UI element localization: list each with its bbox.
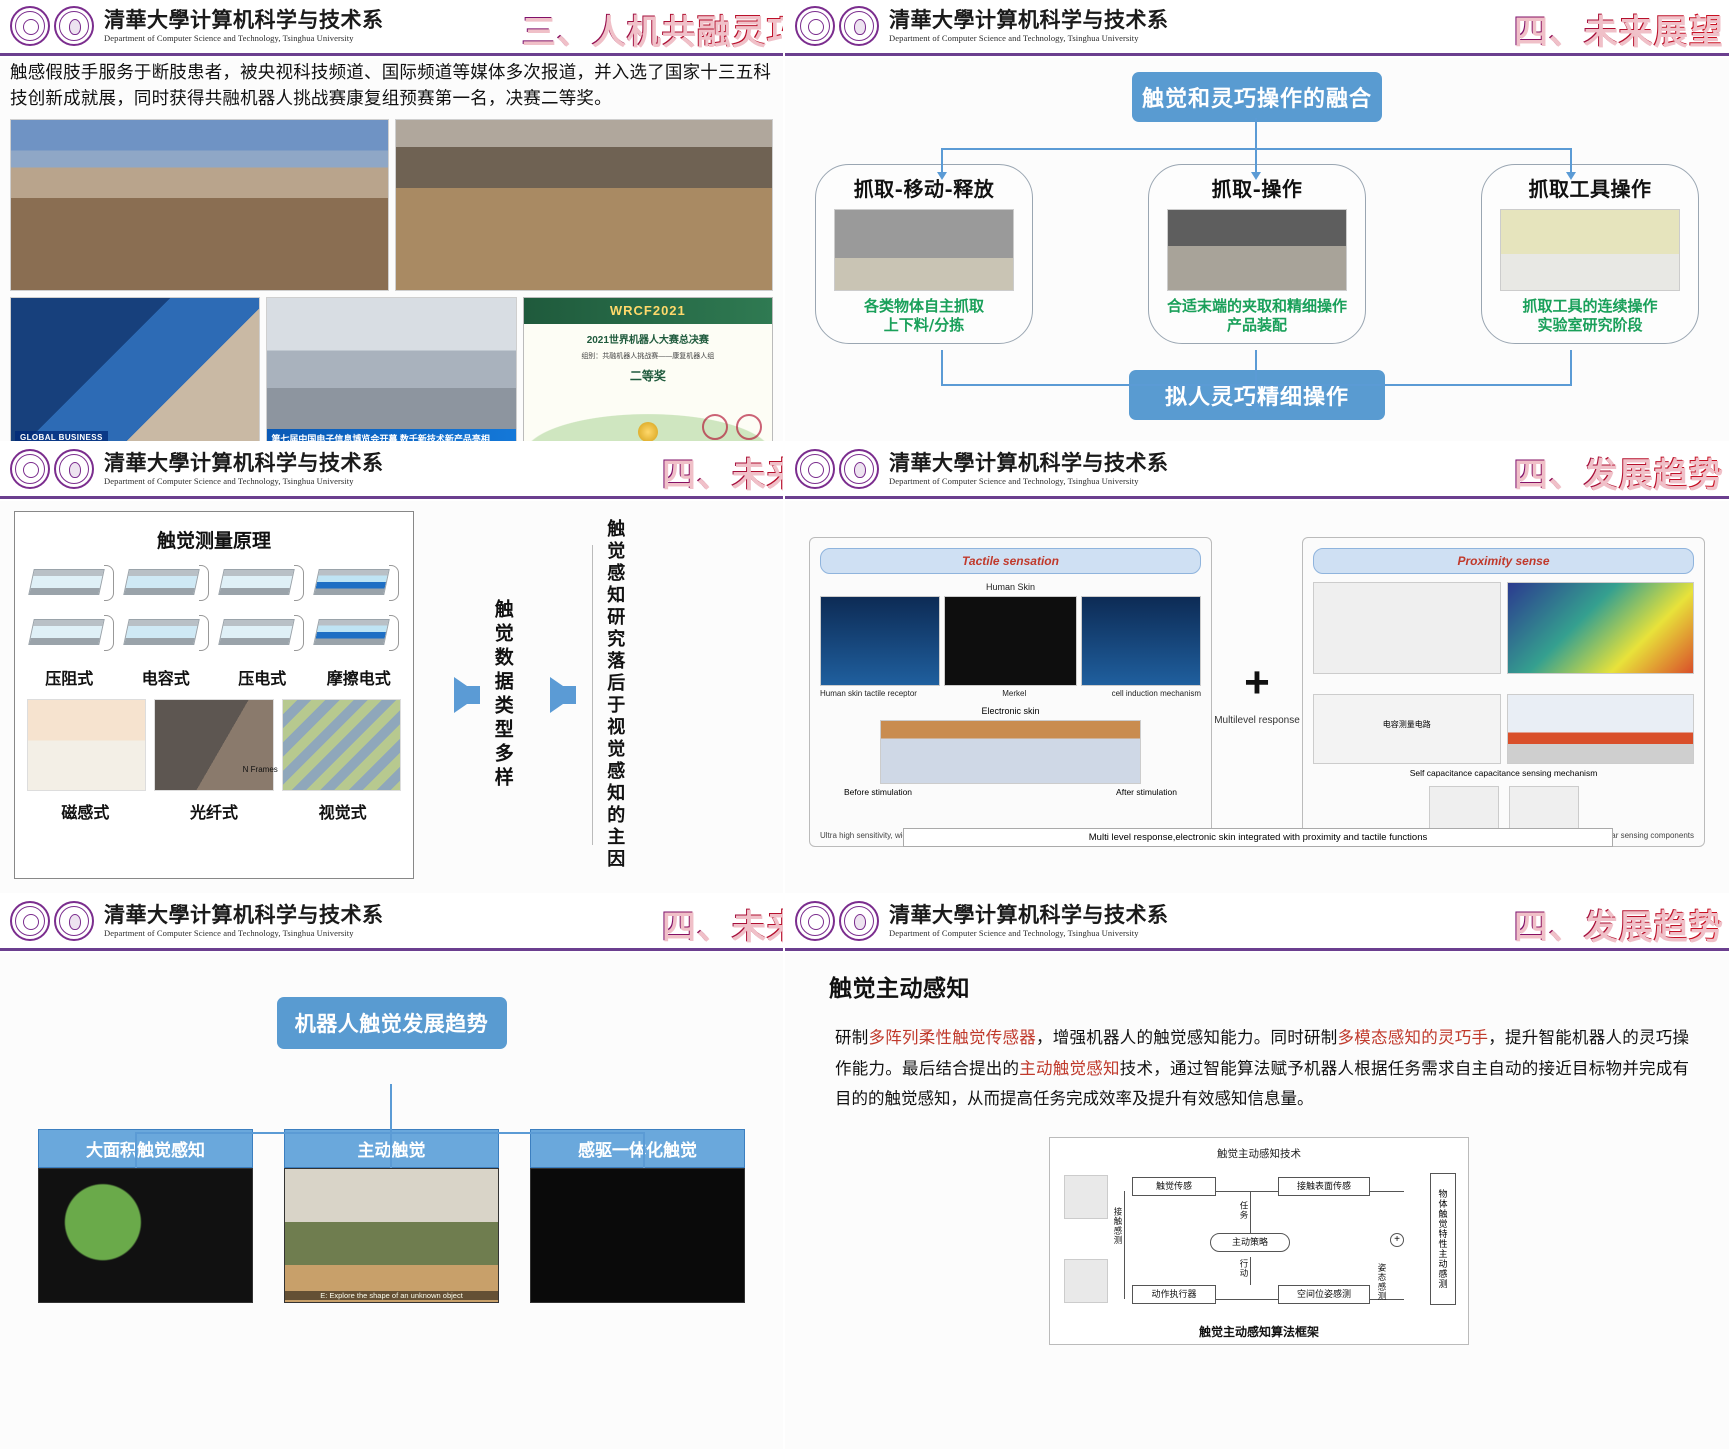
sensor-label-row-2: 磁感式 光纤式 视觉式 xyxy=(21,799,407,823)
flow-card-grasp-move-release[interactable]: 抓取-移动-释放 各类物体自主抓取 上下料/分拣 xyxy=(815,164,1033,344)
flow-card-tool-use[interactable]: 抓取工具操作 抓取工具的连续操作 实验室研究阶段 xyxy=(1481,164,1699,344)
node-object-tactile-property: 物体触觉特性主动感测 xyxy=(1430,1173,1456,1305)
right-arrow-icon-1 xyxy=(454,677,480,713)
hand-silhouette-1 xyxy=(1429,786,1499,834)
sensor-diagram-piezoelectric-bottom xyxy=(215,613,308,659)
hand-silhouette-2 xyxy=(1509,786,1579,834)
dept-name-cn: 清華大學计算机科学与技术系 xyxy=(104,9,384,31)
flow-connector-merge-1 xyxy=(941,350,943,386)
slide-6[interactable]: 清華大學计算机科学与技术系 Department of Computer Sci… xyxy=(785,895,1731,1451)
dept-name-cn: 清華大學计算机科学与技术系 xyxy=(889,9,1169,31)
panel-title: 触觉测量原理 xyxy=(21,526,407,553)
arrow-2-wrap xyxy=(524,677,576,713)
edge-action xyxy=(1250,1257,1251,1285)
cs-dept-seal-icon xyxy=(54,449,94,489)
merkel-cell-image xyxy=(944,596,1076,686)
node-tactile-sensing: 触觉传感 xyxy=(1132,1177,1216,1197)
node-active-strategy: 主动策略 xyxy=(1210,1233,1290,1253)
slide-5-title: 四、未来展望 xyxy=(661,899,785,948)
edge-task xyxy=(1250,1191,1251,1233)
sensor-photo-magnetic xyxy=(27,699,146,791)
slide-6-heading: 触觉主动感知 xyxy=(829,969,1689,1003)
slide-5-header: 清華大學计算机科学与技术系 Department of Computer Sci… xyxy=(0,895,783,947)
sensor-label-piezoresistive: 压阻式 xyxy=(21,665,118,689)
flow-card-row: 抓取-移动-释放 各类物体自主抓取 上下料/分拣 抓取-操作 合适末端的夹取和精… xyxy=(801,164,1713,344)
flow-card-image-robot-tool-use xyxy=(1500,209,1680,291)
photo-prosthetic-hand-pingpong xyxy=(10,119,389,291)
slide-6-header: 清華大學计算机科学与技术系 Department of Computer Sci… xyxy=(785,895,1729,947)
dept-name-en: Department of Computer Science and Techn… xyxy=(889,928,1169,938)
cs-dept-seal-icon xyxy=(54,901,94,941)
flow-connector-vertical-top xyxy=(1255,118,1257,150)
slide-4-header: 清華大學计算机科学与技术系 Department of Computer Sci… xyxy=(785,443,1729,495)
photo-prosthetic-hand-grasp-ball xyxy=(395,119,774,291)
sensor-label-magnetic: 磁感式 xyxy=(21,799,150,823)
photo-prosthetic-arm-exhibition: 第七届中国电子信息博览会开幕 数千新技术新产品亮相 xyxy=(266,297,516,444)
photo-banner-expo: 第七届中国电子信息博览会开幕 数千新技术新产品亮相 xyxy=(267,429,515,444)
dept-name-en: Department of Computer Science and Techn… xyxy=(104,476,384,486)
flow-card-image-robot-grasp-sorting xyxy=(834,209,1014,291)
vertical-divider xyxy=(592,545,593,845)
flow-card-caption: 各类物体自主抓取 上下料/分拣 xyxy=(826,297,1022,335)
paragraph-highlight-5: 主动触觉感知 xyxy=(1019,1059,1120,1078)
plus-group: + Multilevel response xyxy=(1212,658,1302,727)
flow-node-bottom: 拟人灵巧精细操作 xyxy=(1129,370,1385,420)
flow-card-grasp-manipulate[interactable]: 抓取-操作 合适末端的夹取和精细操作 产品装配 xyxy=(1148,164,1366,344)
node-spatial-pose-sensing: 空间位姿感测 xyxy=(1278,1285,1370,1305)
tsinghua-seal-icon xyxy=(795,6,835,46)
figure-diagram: 触觉传感 接触表面传感 主动策略 动作执行器 空间位姿感测 物体触觉特性主动感测… xyxy=(1060,1167,1458,1317)
figure-caption: 触觉主动感知算法框架 xyxy=(1060,1323,1458,1340)
flow-connector-branch-1 xyxy=(941,148,943,174)
trend-card-image-robot-full-body xyxy=(38,1168,253,1303)
sensor-diagram-piezoresistive-top xyxy=(25,563,118,609)
dept-name-en: Department of Computer Science and Techn… xyxy=(104,928,384,938)
flow-connector-merge-3 xyxy=(1570,350,1572,386)
induction-mechanism-image xyxy=(1081,596,1201,686)
tsinghua-seal-icon xyxy=(795,901,835,941)
trend-card-image-active-probe: E: Explore the shape of an unknown objec… xyxy=(284,1168,499,1303)
paragraph-text-0: 研制 xyxy=(835,1028,869,1047)
certificate-seal-icon-2 xyxy=(736,414,762,440)
sensor-diagram-piezoresistive-bottom xyxy=(25,613,118,659)
sensor-label-piezoelectric: 压电式 xyxy=(214,665,311,689)
sensor-label-optical-fiber: 光纤式 xyxy=(150,799,279,823)
slide-4-body: Tactile sensation Human Skin Human skin … xyxy=(785,495,1729,889)
sensor-photo-optical-fiber xyxy=(154,699,273,791)
slide-6-paragraph: 研制多阵列柔性触觉传感器，增强机器人的触觉感知能力。同时研制多模态感知的灵巧手，… xyxy=(829,1023,1689,1115)
flow-node-top: 触觉和灵巧操作的融合 xyxy=(1132,72,1382,122)
paragraph-highlight-1: 多阵列柔性触觉传感器 xyxy=(869,1028,1037,1047)
cs-dept-seal-icon xyxy=(839,449,879,489)
sensor-label-row-1: 压阻式 电容式 压电式 摩擦电式 xyxy=(21,665,407,689)
robot-arm-icon xyxy=(1064,1259,1108,1303)
slide-3-header: 清華大學计算机科学与技术系 Department of Computer Sci… xyxy=(0,443,783,495)
tsinghua-seal-icon xyxy=(795,449,835,489)
flow-card-image-robot-assembly xyxy=(1167,209,1347,291)
electronic-skin-image xyxy=(880,720,1141,784)
flow-arrow-1 xyxy=(937,172,947,180)
plus-icon: + xyxy=(1244,658,1270,708)
arrow-1-wrap xyxy=(428,677,480,713)
edge-label-contact-sensing: 接触感测 xyxy=(1112,1207,1124,1245)
cs-dept-seal-icon xyxy=(839,901,879,941)
dept-name-cn: 清華大學计算机科学与技术系 xyxy=(889,904,1169,926)
slide-1[interactable]: 清華大學计算机科学与技术系 Department of Computer Sci… xyxy=(0,0,785,443)
right-arrow-icon-2 xyxy=(550,677,576,713)
slide-1-header: 清華大學计算机科学与技术系 Department of Computer Sci… xyxy=(0,0,783,52)
slide-4-title: 四、发展趋势 xyxy=(1513,447,1723,496)
trend-card-image-caption: E: Explore the shape of an unknown objec… xyxy=(285,1291,498,1300)
flow-connector-branch-3 xyxy=(1570,148,1572,174)
flow-card-caption: 抓取工具的连续操作 实验室研究阶段 xyxy=(1492,297,1688,335)
trend-connector-vertical xyxy=(390,1084,392,1134)
multilevel-response-label: Multilevel response xyxy=(1212,714,1302,727)
sensor-diagram-piezoelectric-top xyxy=(215,563,308,609)
slide-6-title: 四、发展趋势 xyxy=(1513,899,1723,948)
near-sensing-label: Near sensing components xyxy=(1601,831,1694,840)
edge-label-action: 行动 xyxy=(1238,1259,1250,1278)
edge-top xyxy=(1216,1191,1278,1192)
skin-receptor-image xyxy=(820,596,940,686)
after-stimulation-label: After stimulation xyxy=(1116,787,1177,797)
proximity-sensor-photo xyxy=(1313,582,1501,674)
proximity-sense-badge: Proximity sense xyxy=(1313,548,1694,574)
trend-card-title: 感驱一体化触觉 xyxy=(530,1129,745,1168)
sensor-label-triboelectric: 摩擦电式 xyxy=(311,665,408,689)
vertical-text-conclusion: 触觉感知研究落后于视觉感知的主因 xyxy=(603,519,626,871)
slide-3-title: 四、未来展望 xyxy=(661,447,785,496)
paragraph-text-2: ，增强机器人的触觉感知能力。同时研制 xyxy=(1036,1028,1338,1047)
photo-cctv-interview: GLOBAL BUSINESS xyxy=(10,297,260,444)
sensor-diagram-triboelectric-bottom xyxy=(310,613,403,659)
slide-4[interactable]: 清華大學计算机科学与技术系 Department of Computer Sci… xyxy=(785,443,1731,895)
sensor-label-capacitive: 电容式 xyxy=(118,665,215,689)
slide-thumbnail-grid: 清華大學计算机科学与技术系 Department of Computer Sci… xyxy=(0,0,1731,1451)
human-skin-label: Human Skin xyxy=(820,582,1201,592)
slide-4-bottom-note-wrap: Multi level response,electronic skin int… xyxy=(903,828,1613,847)
circuit-label-cn: 电容测量电路 xyxy=(1314,695,1500,730)
trend-card-image-horse-robot xyxy=(530,1168,745,1303)
flow-card-title: 抓取-移动-释放 xyxy=(826,173,1022,202)
slide-3[interactable]: 清華大學计算机科学与技术系 Department of Computer Sci… xyxy=(0,443,785,895)
tsinghua-seal-icon xyxy=(10,901,50,941)
photo-award-certificate: WRCF2021 2021世界机器人大赛总决赛 组别：共融机器人挑战赛——康复机… xyxy=(523,297,773,444)
trend-node-top: 机器人触觉发展趋势 xyxy=(277,997,507,1049)
cs-dept-seal-icon xyxy=(54,6,94,46)
sensor-photo-row: N Frames xyxy=(21,689,407,791)
paragraph-highlight-3: 多模态感知的灵巧手 xyxy=(1338,1028,1489,1047)
flow-connector-branch-2 xyxy=(1255,148,1257,174)
flow-arrow-bottom xyxy=(1251,404,1261,412)
edge-label-pose-sensing: 姿态感测 xyxy=(1376,1263,1388,1301)
dexterous-hand-icon xyxy=(1064,1175,1108,1219)
photo-caption-global-business: GLOBAL BUSINESS xyxy=(15,431,108,444)
capacitance-circuit-diagram: 电容测量电路 xyxy=(1313,694,1501,764)
flow-connector-merge-2 xyxy=(1255,350,1257,406)
edge-bottom xyxy=(1216,1299,1278,1300)
node-contact-surface-sensing: 接触表面传感 xyxy=(1278,1177,1370,1197)
slide-2[interactable]: 清華大學计算机科学与技术系 Department of Computer Sci… xyxy=(785,0,1731,443)
sensor-diagram-triboelectric-top xyxy=(310,563,403,609)
trend-card-title: 大面积触觉感知 xyxy=(38,1129,253,1168)
slide-2-header: 清華大學计算机科学与技术系 Department of Computer Sci… xyxy=(785,0,1729,52)
trend-card-integrated-sensing-actuation[interactable]: 感驱一体化触觉 xyxy=(530,1129,745,1303)
dept-name-cn: 清華大學计算机科学与技术系 xyxy=(104,904,384,926)
sensor-diagram-capacitive-bottom xyxy=(120,613,213,659)
node-action-executor: 动作执行器 xyxy=(1132,1285,1216,1305)
tsinghua-seal-icon xyxy=(10,6,50,46)
sensor-diagram-capacitive-top xyxy=(120,563,213,609)
dept-name-en: Department of Computer Science and Techn… xyxy=(104,33,384,43)
tactile-sensation-card: Tactile sensation Human Skin Human skin … xyxy=(809,537,1212,847)
vision-frames-note: N Frames xyxy=(243,765,278,774)
flow-card-caption: 合适末端的夹取和精细操作 产品装配 xyxy=(1159,297,1355,335)
cs-dept-seal-icon xyxy=(839,6,879,46)
receptor-label: Human skin tactile receptor xyxy=(820,689,917,698)
figure-title: 触觉主动感知技术 xyxy=(1060,1146,1458,1161)
dept-name-en: Department of Computer Science and Techn… xyxy=(889,476,1169,486)
sensor-photo-vision: N Frames xyxy=(282,699,401,791)
dept-name-en: Department of Computer Science and Techn… xyxy=(889,33,1169,43)
sensor-label-vision: 视觉式 xyxy=(278,799,407,823)
slide-2-title: 四、未来展望 xyxy=(1513,4,1723,53)
dept-name-cn: 清華大學计算机科学与技术系 xyxy=(104,452,384,474)
slide-6-body: 触觉主动感知 研制多阵列柔性触觉传感器，增强机器人的触觉感知能力。同时研制多模态… xyxy=(785,947,1729,1445)
tactile-sensation-badge: Tactile sensation xyxy=(820,548,1201,574)
edge-left xyxy=(1124,1191,1125,1299)
sum-node-icon: + xyxy=(1390,1233,1404,1247)
sensor-diagram-row-1 xyxy=(21,563,407,609)
mechanism-label: cell induction mechanism xyxy=(1112,689,1201,698)
slide-1-body: 触感假肢手服务于断肢患者，被央视科技频道、国际频道等媒体多次报道，并入选了国家十… xyxy=(0,52,783,443)
vertical-text-data-types: 触觉数据类型多样 xyxy=(490,599,514,791)
sensor-diagram-row-2 xyxy=(21,613,407,659)
slide-2-flow-diagram: 触觉和灵巧操作的融合 抓取-移动-释放 各类物体自主抓取 上下料/分拣 抓取-操… xyxy=(785,52,1729,437)
slide-5-body: 机器人触觉发展趋势 大面积触觉感知 主动触觉 E: Explore the sh… xyxy=(0,947,783,1445)
tactile-principle-panel: 触觉测量原理 压阻式 电容式 压电式 摩擦电式 xyxy=(14,511,414,879)
sensing-layer-diagram xyxy=(1507,694,1695,764)
dept-name-cn: 清華大學计算机科学与技术系 xyxy=(889,452,1169,474)
flow-arrow-2 xyxy=(1251,172,1261,180)
edge-right-top xyxy=(1370,1191,1404,1192)
flow-card-title: 抓取工具操作 xyxy=(1492,173,1688,202)
active-tactile-framework-figure: 触觉主动感知技术 触觉传感 接触表面传感 主动策略 动作执行器 空间位姿感测 物… xyxy=(1049,1137,1469,1345)
certificate-line-1: 2021世界机器人大赛总决赛 xyxy=(524,331,772,346)
slide-1-title: 三、人机共融灵巧操作 xyxy=(521,4,785,53)
certificate-line-3: 二等奖 xyxy=(524,367,772,384)
multilevel-integration-note: Multi level response,electronic skin int… xyxy=(903,828,1613,847)
slide-3-body: 触觉测量原理 压阻式 电容式 压电式 摩擦电式 xyxy=(0,495,783,889)
proximity-sense-card: Proximity sense 电容测量电路 Self capacitance … xyxy=(1302,537,1705,847)
merkel-label: Merkel xyxy=(1002,689,1026,698)
tsinghua-seal-icon xyxy=(10,449,50,489)
self-capacitance-label: Self capacitance capacitance sensing mec… xyxy=(1313,768,1694,778)
certificate-seal-icon-1 xyxy=(702,414,728,440)
certificate-line-2: 组别：共融机器人挑战赛——康复机器人组 xyxy=(524,351,772,361)
trend-card-large-area-tactile[interactable]: 大面积触觉感知 xyxy=(38,1129,253,1303)
flow-arrow-3 xyxy=(1566,172,1576,180)
trend-connector-branch-1 xyxy=(135,1132,137,1168)
slide-3-conclusion-column: 触觉数据类型多样 触觉感知研究落后于视觉感知的主因 xyxy=(414,511,773,879)
slide-1-paragraph: 触感假肢手服务于断肢患者，被央视科技频道、国际频道等媒体多次报道，并入选了国家十… xyxy=(10,60,773,113)
before-stimulation-label: Before stimulation xyxy=(844,787,912,797)
slide-5[interactable]: 清華大學计算机科学与技术系 Department of Computer Sci… xyxy=(0,895,785,1451)
certificate-medal-icon xyxy=(638,422,658,442)
slide-1-photo-group: GLOBAL BUSINESS 第七届中国电子信息博览会开幕 数千新技术新产品亮… xyxy=(10,119,773,444)
edge-label-task: 任务 xyxy=(1238,1201,1250,1220)
proximity-heatmap-plot xyxy=(1507,582,1695,674)
trend-connector-branch-2 xyxy=(390,1132,392,1168)
certificate-banner: WRCF2021 xyxy=(524,298,772,324)
trend-connector-branch-3 xyxy=(643,1132,645,1168)
electronic-skin-label: Electronic skin xyxy=(820,706,1201,716)
